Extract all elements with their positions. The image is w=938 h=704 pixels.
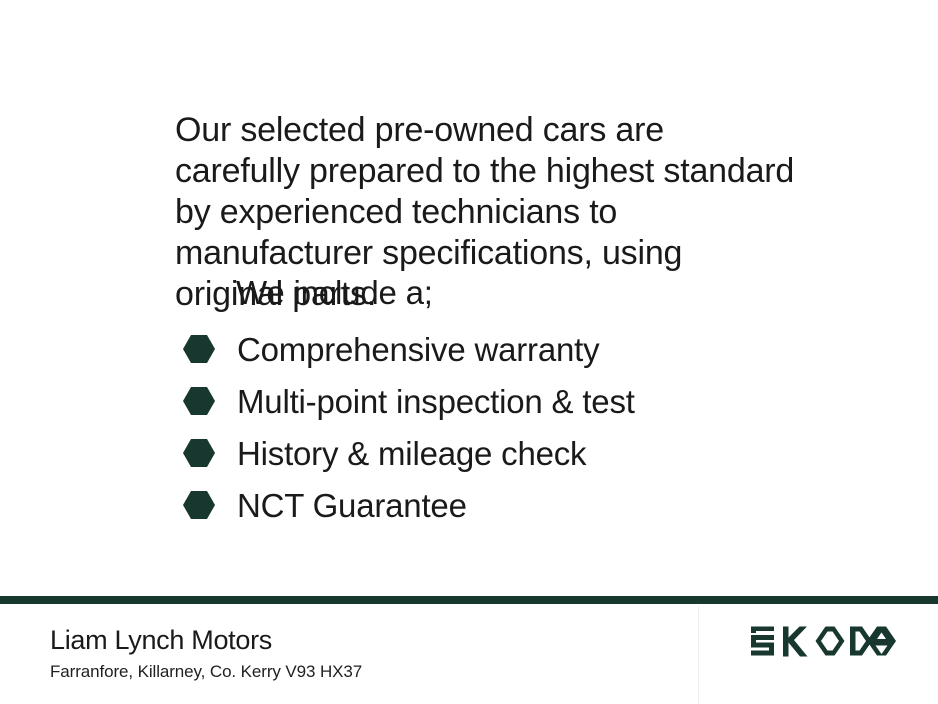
hexagon-bullet-icon: [183, 490, 215, 520]
inclusions-list: Comprehensive warranty Multi-point inspe…: [183, 323, 635, 531]
hexagon-bullet-icon: [183, 334, 215, 364]
list-item: Multi-point inspection & test: [183, 375, 635, 427]
footer-divider: [0, 596, 938, 604]
list-item: Comprehensive warranty: [183, 323, 635, 375]
list-item: NCT Guarantee: [183, 479, 635, 531]
list-item-label: NCT Guarantee: [237, 489, 467, 522]
slide-canvas: Our selected pre-owned cars are carefull…: [0, 0, 938, 704]
list-item-label: Comprehensive warranty: [237, 333, 599, 366]
list-item: History & mileage check: [183, 427, 635, 479]
hexagon-bullet-icon: [183, 386, 215, 416]
list-item-label: Multi-point inspection & test: [237, 385, 635, 418]
skoda-wordmark-logo: [748, 624, 898, 658]
include-lead-text: We include a;: [236, 272, 433, 313]
dealer-address: Farranfore, Killarney, Co. Kerry V93 HX3…: [50, 663, 362, 680]
dealer-name: Liam Lynch Motors: [50, 627, 272, 654]
list-item-label: History & mileage check: [237, 437, 586, 470]
hexagon-bullet-icon: [183, 438, 215, 468]
